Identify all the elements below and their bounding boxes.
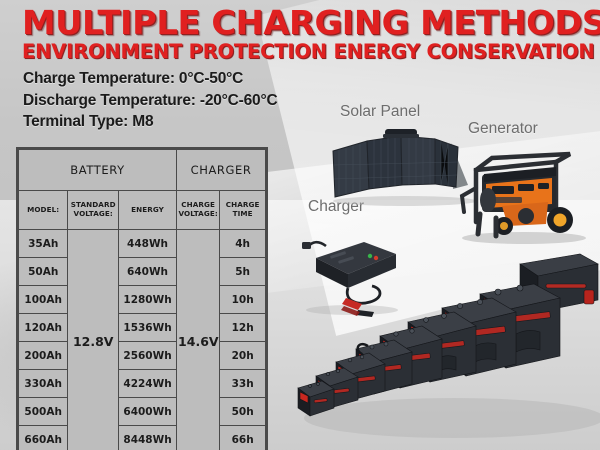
- infographic-poster: MULTIPLE CHARGING METHODS ENVIRONMENT PR…: [0, 0, 600, 450]
- specification-table: BATTERY CHARGER MODEL: STANDARD VOLTAGE:…: [16, 147, 268, 450]
- column-header-standard-voltage: STANDARD VOLTAGE:: [68, 191, 119, 230]
- heading-block: MULTIPLE CHARGING METHODS ENVIRONMENT PR…: [22, 6, 588, 63]
- label-solar-panel: Solar Panel: [340, 103, 420, 121]
- group-header-battery: BATTERY: [19, 150, 177, 191]
- page-title: MULTIPLE CHARGING METHODS: [22, 6, 599, 40]
- table-row: 330Ah 4224Wh 33h: [19, 370, 266, 398]
- cell-model: 50Ah: [19, 258, 68, 286]
- table-row: 100Ah 1280Wh 10h: [19, 286, 266, 314]
- cell-energy: 1280Wh: [119, 286, 177, 314]
- cell-charge-time: 20h: [220, 342, 266, 370]
- column-header-charge-voltage: CHARGE VOLTAGE:: [177, 191, 220, 230]
- table-row: 660Ah 8448Wh 66h: [19, 426, 266, 450]
- cell-energy: 448Wh: [119, 230, 177, 258]
- cell-model: 200Ah: [19, 342, 68, 370]
- cell-charge-time: 66h: [220, 426, 266, 450]
- cell-model: 120Ah: [19, 314, 68, 342]
- cell-energy: 4224Wh: [119, 370, 177, 398]
- table-column-header-row: MODEL: STANDARD VOLTAGE: ENERGY CHARGE V…: [19, 191, 266, 230]
- cell-standard-voltage: 12.8V: [68, 230, 119, 450]
- column-header-energy: ENERGY: [119, 191, 177, 230]
- cell-energy: 2560Wh: [119, 342, 177, 370]
- table-row: 200Ah 2560Wh 20h: [19, 342, 266, 370]
- table-row: 50Ah 640Wh 5h: [19, 258, 266, 286]
- cell-charge-voltage: 14.6V: [177, 230, 220, 450]
- column-header-charge-time: CHARGE TIME: [220, 191, 266, 230]
- cell-model: 330Ah: [19, 370, 68, 398]
- cell-model: 100Ah: [19, 286, 68, 314]
- cell-charge-time: 5h: [220, 258, 266, 286]
- table-group-header-row: BATTERY CHARGER: [19, 150, 266, 191]
- column-header-model: MODEL:: [19, 191, 68, 230]
- table-row: 120Ah 1536Wh 12h: [19, 314, 266, 342]
- spec-charge-temperature: Charge Temperature: 0°C-50°C: [23, 68, 277, 90]
- cell-charge-time: 50h: [220, 398, 266, 426]
- spec-discharge-temperature: Discharge Temperature: -20°C-60°C: [23, 90, 277, 112]
- cell-model: 660Ah: [19, 426, 68, 450]
- cell-energy: 8448Wh: [119, 426, 177, 450]
- cell-energy: 6400Wh: [119, 398, 177, 426]
- cell-model: 500Ah: [19, 398, 68, 426]
- cell-energy: 640Wh: [119, 258, 177, 286]
- cell-charge-time: 4h: [220, 230, 266, 258]
- cell-charge-time: 33h: [220, 370, 266, 398]
- battery-lineup-image: [284, 250, 600, 450]
- cell-charge-time: 10h: [220, 286, 266, 314]
- cell-energy: 1536Wh: [119, 314, 177, 342]
- page-subtitle: ENVIRONMENT PROTECTION ENERGY CONSERVATI…: [22, 41, 588, 63]
- cell-model: 35Ah: [19, 230, 68, 258]
- generator-image: [452, 140, 594, 246]
- table-row: 35Ah 12.8V 448Wh 14.6V 4h: [19, 230, 266, 258]
- spec-list: Charge Temperature: 0°C-50°C Discharge T…: [23, 68, 277, 133]
- group-header-charger: CHARGER: [177, 150, 266, 191]
- spec-terminal-type: Terminal Type: M8: [23, 111, 277, 133]
- cell-charge-time: 12h: [220, 314, 266, 342]
- table-row: 500Ah 6400Wh 50h: [19, 398, 266, 426]
